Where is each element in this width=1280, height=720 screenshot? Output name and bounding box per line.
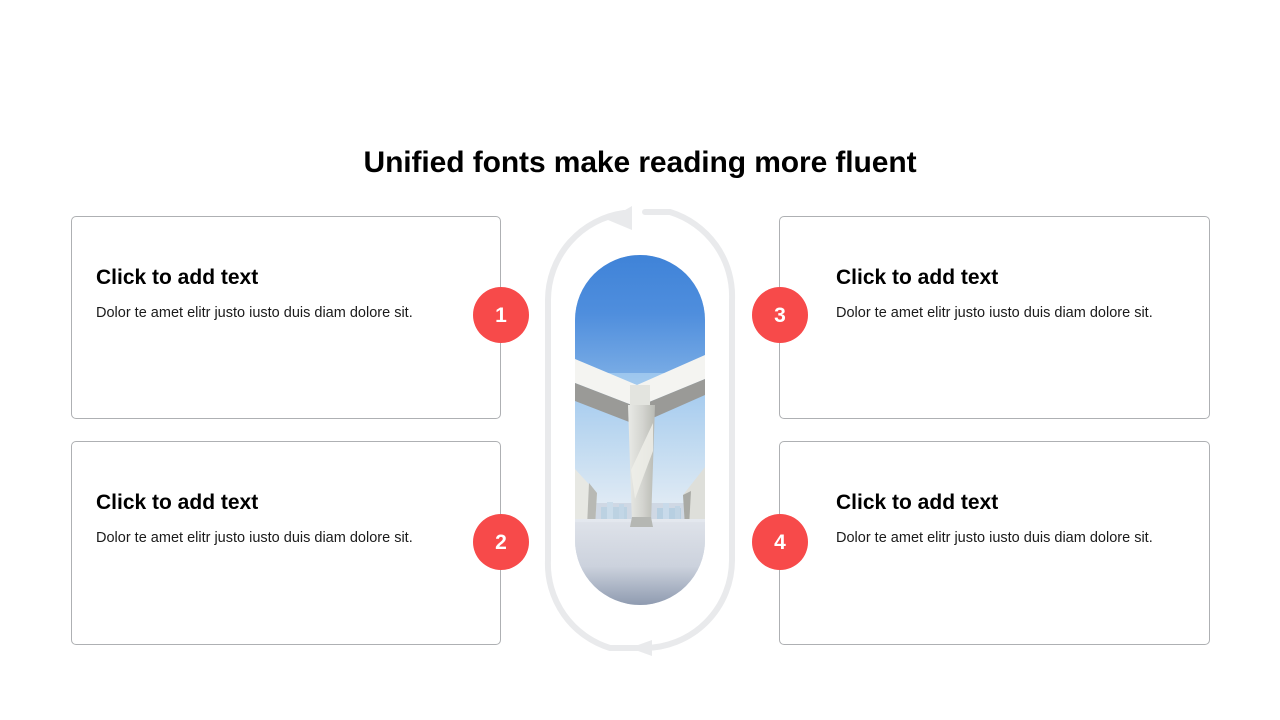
step-badge-3-label: 3 [774, 305, 786, 326]
slide-canvas: Unified fonts make reading more fluent C… [0, 0, 1280, 720]
step-badge-2[interactable]: 2 [473, 514, 529, 570]
text-card-4-body[interactable]: Dolor te amet elitr justo iusto duis dia… [836, 528, 1185, 548]
text-card-2[interactable]: Click to add text Dolor te amet elitr ju… [71, 441, 501, 645]
text-card-4[interactable]: Click to add text Dolor te amet elitr ju… [779, 441, 1210, 645]
text-card-2-heading[interactable]: Click to add text [96, 490, 476, 516]
page-title: Unified fonts make reading more fluent [0, 144, 1280, 182]
text-card-1-heading[interactable]: Click to add text [96, 265, 476, 291]
text-card-1[interactable]: Click to add text Dolor te amet elitr ju… [71, 216, 501, 419]
step-badge-3[interactable]: 3 [752, 287, 808, 343]
text-card-3-body[interactable]: Dolor te amet elitr justo iusto duis dia… [836, 303, 1185, 323]
text-card-2-body[interactable]: Dolor te amet elitr justo iusto duis dia… [96, 528, 476, 548]
text-card-4-heading[interactable]: Click to add text [836, 490, 1185, 516]
text-card-1-content: Click to add text Dolor te amet elitr ju… [96, 265, 476, 323]
step-badge-4-label: 4 [774, 532, 786, 553]
step-badge-4[interactable]: 4 [752, 514, 808, 570]
text-card-3[interactable]: Click to add text Dolor te amet elitr ju… [779, 216, 1210, 419]
step-badge-2-label: 2 [495, 532, 507, 553]
center-photo [575, 255, 705, 605]
text-card-2-content: Click to add text Dolor te amet elitr ju… [96, 490, 476, 548]
step-badge-1[interactable]: 1 [473, 287, 529, 343]
text-card-1-body[interactable]: Dolor te amet elitr justo iusto duis dia… [96, 303, 476, 323]
step-badge-1-label: 1 [495, 305, 507, 326]
text-card-3-heading[interactable]: Click to add text [836, 265, 1185, 291]
text-card-4-content: Click to add text Dolor te amet elitr ju… [836, 490, 1185, 548]
text-card-3-content: Click to add text Dolor te amet elitr ju… [836, 265, 1185, 323]
